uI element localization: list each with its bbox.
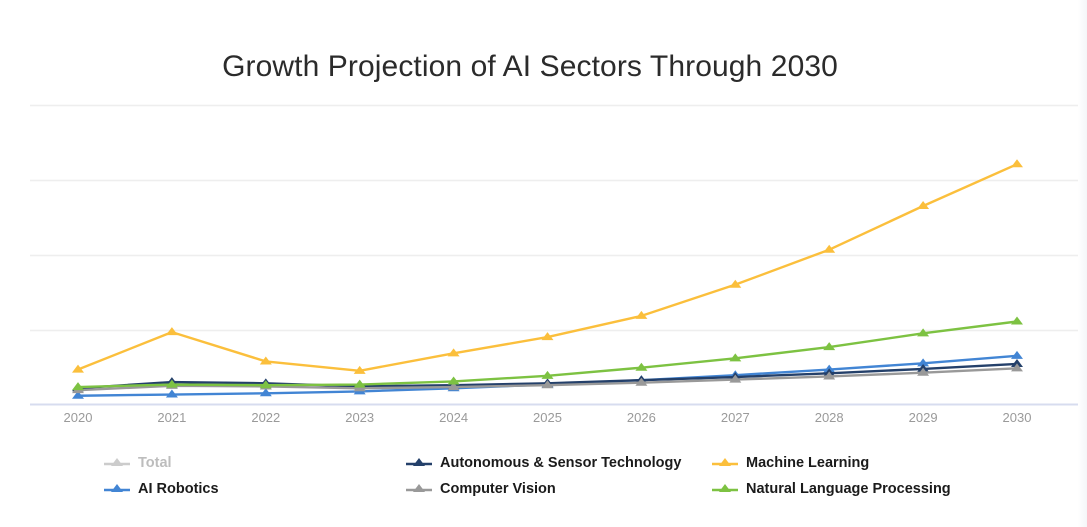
legend-item-label: Total: [138, 455, 172, 471]
legend-marker-icon: [104, 456, 130, 470]
legend-item-ai-robotics[interactable]: AI Robotics: [104, 477, 219, 501]
x-axis-tick-2023: 2023: [345, 410, 374, 425]
data-point-marker[interactable]: [1011, 351, 1023, 359]
legend-marker-icon: [712, 456, 738, 470]
chart-plot-svg: [0, 0, 1087, 430]
legend-item-label: AI Robotics: [138, 481, 219, 497]
x-axis-tick-2029: 2029: [909, 410, 938, 425]
legend-marker-icon: [712, 482, 738, 496]
legend-marker-icon: [406, 456, 432, 470]
x-axis-tick-2030: 2030: [1003, 410, 1032, 425]
chart-page: Growth Projection of AI Sectors Through …: [0, 0, 1087, 527]
x-axis-tick-2026: 2026: [627, 410, 656, 425]
plot-area: [0, 0, 1087, 430]
x-axis-tick-2028: 2028: [815, 410, 844, 425]
legend-item-natural-language-processing[interactable]: Natural Language Processing: [712, 477, 951, 501]
legend-item-autonomous-sensor-technology[interactable]: Autonomous & Sensor Technology: [406, 451, 681, 475]
legend-item-label: Autonomous & Sensor Technology: [440, 455, 681, 471]
x-axis-tick-2024: 2024: [439, 410, 468, 425]
series-layer: [72, 159, 1023, 399]
x-axis-tick-2020: 2020: [64, 410, 93, 425]
chart-legend: TotalAI RoboticsAutonomous & Sensor Tech…: [0, 448, 1060, 510]
x-axis-tick-2025: 2025: [533, 410, 562, 425]
x-axis-tick-2022: 2022: [251, 410, 280, 425]
gridlines: [30, 106, 1078, 331]
data-point-marker[interactable]: [1011, 159, 1023, 167]
legend-item-machine-learning[interactable]: Machine Learning: [712, 451, 869, 475]
data-point-marker[interactable]: [1011, 317, 1023, 325]
series-machine-learning[interactable]: [72, 159, 1023, 374]
legend-item-label: Natural Language Processing: [746, 481, 951, 497]
x-axis-tick-labels: 2020202120222023202420252026202720282029…: [0, 410, 1087, 434]
x-axis-tick-2027: 2027: [721, 410, 750, 425]
legend-item-total[interactable]: Total: [104, 451, 172, 475]
x-axis-tick-2021: 2021: [157, 410, 186, 425]
legend-item-label: Machine Learning: [746, 455, 869, 471]
legend-marker-icon: [406, 482, 432, 496]
legend-item-label: Computer Vision: [440, 481, 556, 497]
legend-item-computer-vision[interactable]: Computer Vision: [406, 477, 556, 501]
legend-marker-icon: [104, 482, 130, 496]
